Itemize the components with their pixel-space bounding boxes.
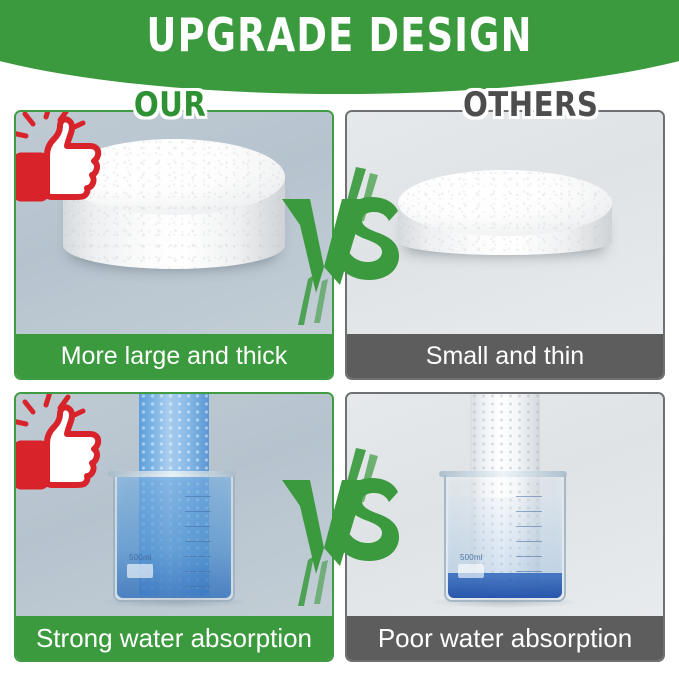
beaker-graduations (516, 496, 542, 588)
header-banner: UPGRADE DESIGN (0, 0, 679, 94)
panel-ours-thickness: More large and thick (14, 110, 334, 380)
beaker-rim (439, 471, 567, 477)
panel-ours-absorption: 500ml Strong water absorption (14, 392, 334, 662)
beaker-water-level-full (117, 477, 231, 598)
caption-ours-absorption: Strong water absorption (16, 616, 332, 660)
panel-media-ours-thickness (16, 112, 332, 334)
panel-others-absorption: 500ml Poor water absorption (345, 392, 665, 662)
product-image-soaked-cartridge: 500ml (69, 394, 279, 608)
caption-others-thickness: Small and thin (347, 334, 663, 378)
caption-others-absorption: Poor water absorption (347, 616, 663, 660)
beaker-label-plate (127, 564, 153, 578)
disc-texture (398, 170, 612, 236)
caption-ours-thickness: More large and thick (16, 334, 332, 378)
beaker-volume-label: 500ml (129, 553, 152, 562)
panel-media-ours-absorption: 500ml (16, 394, 332, 616)
beaker-others: 500ml (444, 474, 566, 602)
product-image-thick-disc (63, 177, 285, 269)
product-image-thin-disc (398, 203, 612, 255)
disc-top-surface (398, 170, 612, 236)
disc-texture (63, 139, 285, 215)
column-heading-others: OTHERS (463, 88, 598, 122)
comparison-grid: More large and thick Small and thin (14, 110, 665, 662)
beaker-label-plate (458, 564, 484, 578)
page-title: UPGRADE DESIGN (0, 12, 679, 58)
beaker-volume-label: 500ml (460, 553, 483, 562)
upgrade-design-infographic: UPGRADE DESIGN OUR OTHERS (0, 0, 679, 679)
panel-others-thickness: Small and thin (345, 110, 665, 380)
product-image-dry-cartridge: 500ml (400, 394, 610, 608)
panel-media-others-thickness (347, 112, 663, 334)
disc-top-surface (63, 139, 285, 215)
beaker-ours: 500ml (113, 474, 235, 602)
beaker-graduations (185, 496, 211, 588)
column-heading-ours: OUR (134, 88, 206, 122)
panel-media-others-absorption: 500ml (347, 394, 663, 616)
